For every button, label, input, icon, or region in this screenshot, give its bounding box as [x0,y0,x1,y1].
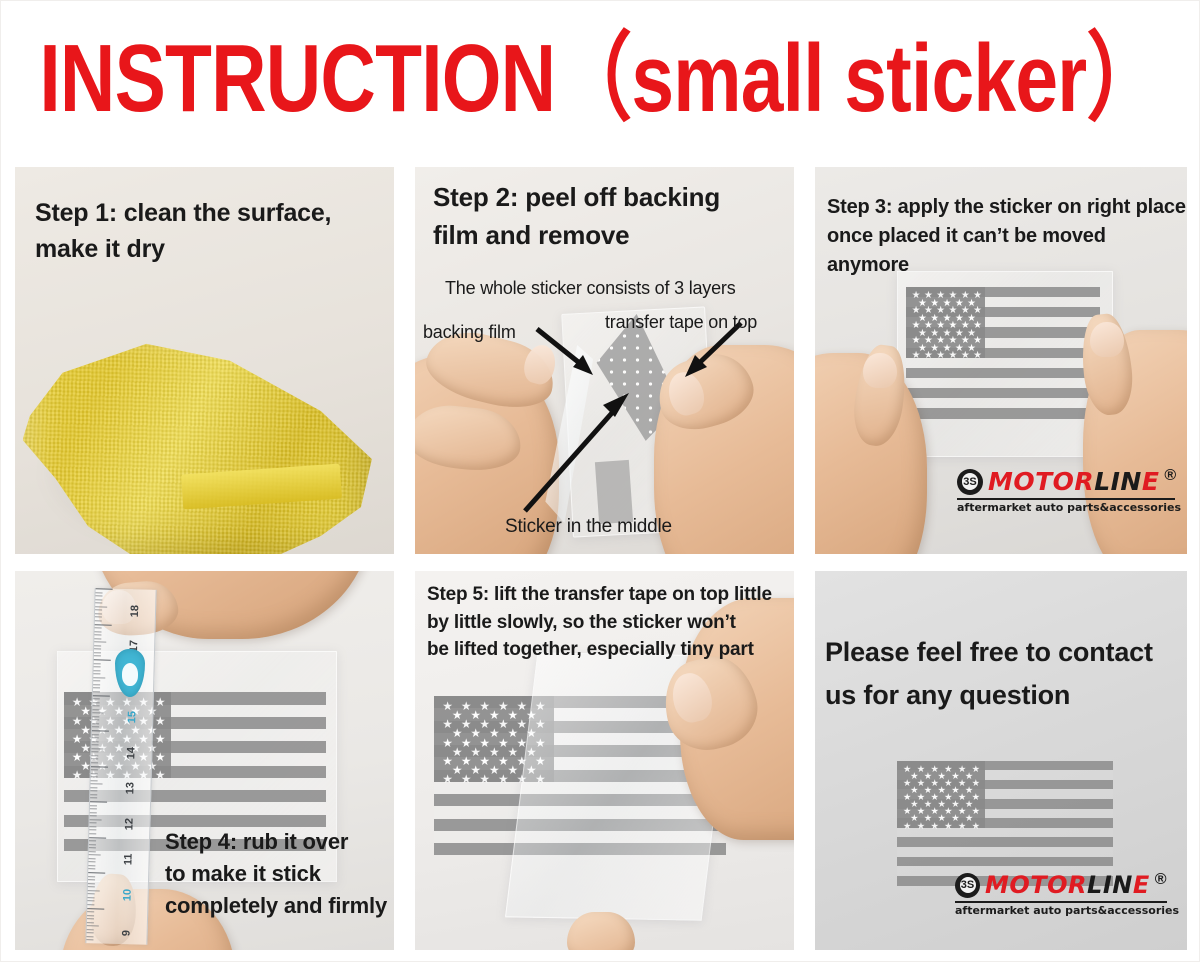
flag-star: ★ [958,822,966,831]
flag-stripe [906,368,1099,378]
logo-tagline: aftermarket auto parts&accessories [957,501,1175,514]
flag-stripe [906,388,1099,398]
registered-trademark-icon: ® [1164,467,1176,485]
flag-stripe [906,408,1099,418]
ruler-number: 13 [124,782,136,795]
logo-motor-text: MOTOR [985,871,1087,899]
instruction-sheet: INSTRUCTION（small sticker） Step 1: clean… [0,0,1200,962]
panel-3-caption: Step 3: apply the sticker on right place… [827,193,1187,280]
flag-star: ★ [479,774,490,786]
panel-5-caption: Step 5: lift the transfer tape on top li… [427,581,791,664]
logo-divider [955,901,1167,903]
flag-star: ★ [973,351,982,361]
panel-step-2: Step 2: peel off backing film and remove… [415,167,794,554]
flag-star: ★ [442,774,453,786]
ruler-numbers: 9101112131415161718 [86,588,155,944]
sticker-middle-arrow-icon [515,381,639,517]
motorline-logo: 3S MOTORLINE ® aftermarket auto parts&ac… [955,871,1167,917]
ruler-number: 18 [129,604,141,617]
flag-star: ★ [972,822,980,831]
flag-star: ★ [917,822,925,831]
flag-stripe [897,857,1113,867]
ruler-number: 15 [126,711,138,724]
flag-star: ★ [949,351,958,361]
flag-stripe [897,828,1113,838]
flag-star: ★ [930,822,938,831]
gear-inner-label: 3S [962,473,979,490]
american-flag-decal: ★★★★★★★★★★★★★★★★★★★★★★★★★★★★★★★★★★★★★★★★… [906,287,1099,419]
callout-transfer-tape: transfer tape on top [605,309,757,335]
bottom-finger [567,912,635,950]
logo-e-text: E [1142,467,1160,496]
panel-step-1: Step 1: clean the surface, make it dry [15,167,394,554]
page-title-text: INSTRUCTION（small sticker） [40,31,1163,127]
flag-stripe [906,358,1099,368]
flag-star: ★ [903,822,911,831]
flag-stripe [906,398,1099,408]
flag-stripe [897,837,1113,847]
flag-star: ★ [461,774,472,786]
panel-6-caption: Please feel free to contact us for any q… [825,631,1187,717]
gear-icon: 3S [955,873,980,898]
backing-film-arrow-icon [535,325,605,383]
callout-sticker-middle: Sticker in the middle [505,513,672,541]
flag-star: ★ [72,770,83,782]
logo-divider [957,498,1175,500]
flag-stripe [906,378,1099,388]
flag-canton: ★★★★★★★★★★★★★★★★★★★★★★★★★★★★★★★★★★★★★★★★… [897,761,985,828]
logo-lin-text: LIN [1087,871,1133,899]
panel-step-5: ★★★★★★★★★★★★★★★★★★★★★★★★★★★★★★★★★★★★★★★★… [415,571,794,950]
panel-1-caption: Step 1: clean the surface, make it dry [35,195,380,268]
flag-star: ★ [498,774,509,786]
flag-star: ★ [961,351,970,361]
logo-lin-text: LIN [1094,467,1142,496]
panel-2-note: The whole sticker consists of 3 layers [445,275,794,301]
ruler-number: 9 [121,930,133,936]
panel-2-caption: Step 2: peel off backing film and remove [433,179,791,254]
gear-inner-label: 3S [960,877,976,893]
page-title: INSTRUCTION（small sticker） [1,25,1200,133]
flag-star: ★ [936,351,945,361]
american-flag-decal: ★★★★★★★★★★★★★★★★★★★★★★★★★★★★★★★★★★★★★★★★… [897,761,1113,886]
left-fingernail [863,353,896,388]
panel-step-4: ★★★★★★★★★★★★★★★★★★★★★★★★★★★★★★★★★★★★★★★★… [15,571,394,950]
ruler-number: 11 [122,853,134,865]
ruler-number: 12 [123,817,135,830]
flag-star: ★ [924,351,933,361]
ruler: 9101112131415161718 [85,588,156,945]
gear-icon: 3S [957,469,983,495]
flag-star: ★ [155,770,166,782]
panel-contact: ★★★★★★★★★★★★★★★★★★★★★★★★★★★★★★★★★★★★★★★★… [815,571,1187,950]
flag-stripe [897,847,1113,857]
callout-backing-film: backing film [423,319,516,345]
motorline-logo: 3S MOTORLINE ® aftermarket auto parts&ac… [957,467,1175,514]
flag-canton: ★★★★★★★★★★★★★★★★★★★★★★★★★★★★★★★★★★★★★★★★… [906,287,985,358]
logo-motor-text: MOTOR [988,467,1094,496]
flag-star: ★ [912,351,921,361]
ruler-number: 10 [121,888,133,901]
right-fingernail [1090,322,1123,357]
registered-trademark-icon: ® [1155,871,1167,889]
logo-tagline: aftermarket auto parts&accessories [955,904,1167,917]
ruler-number: 14 [125,746,137,759]
panel-step-3: ★★★★★★★★★★★★★★★★★★★★★★★★★★★★★★★★★★★★★★★★… [815,167,1187,554]
flag-star: ★ [944,822,952,831]
panel-4-caption: Step 4: rub it over to make it stick com… [165,826,394,922]
logo-e-text: E [1133,871,1150,899]
